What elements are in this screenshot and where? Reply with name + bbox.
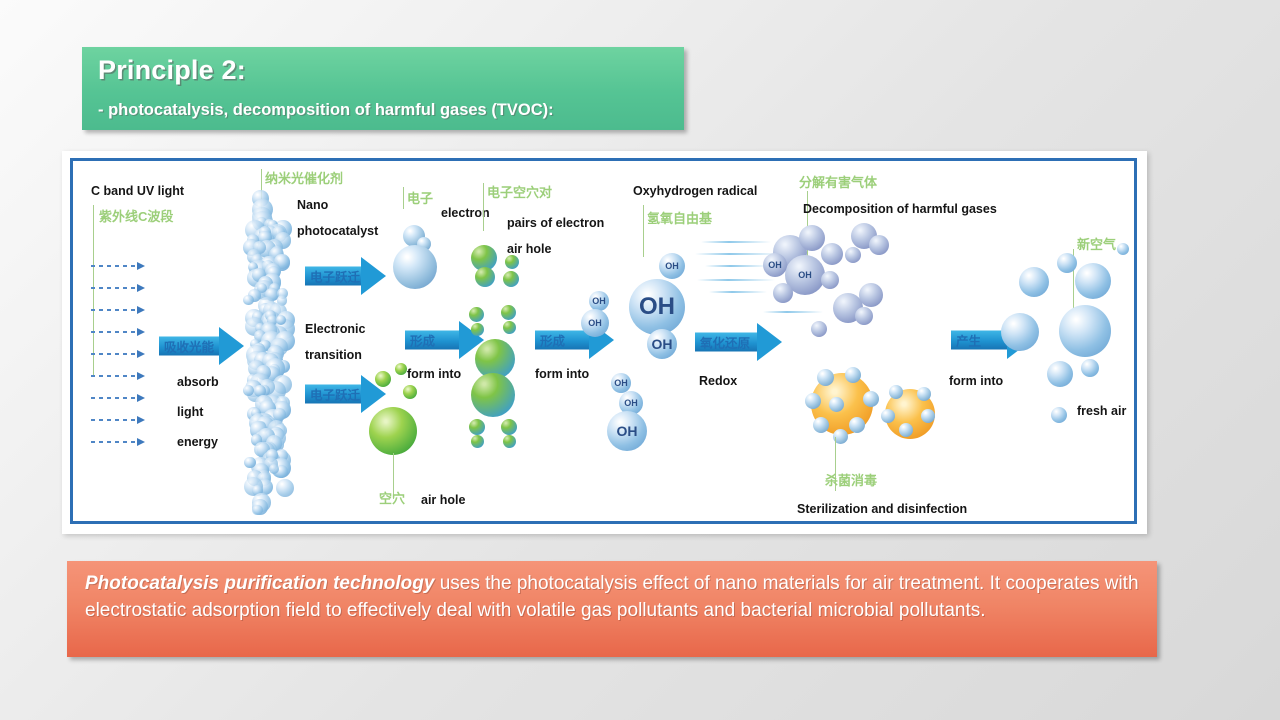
summary-note-box: Photocatalysis purification technology u… [67, 561, 1157, 657]
pair-sphere [503, 321, 516, 334]
harmful-gas-cluster [845, 247, 861, 263]
uv-ray [91, 287, 137, 289]
harmful-gas-cluster [821, 243, 843, 265]
oh-molecule: OH [659, 253, 685, 279]
label-pairs-cn: 电子空穴对 [487, 185, 552, 200]
label-sterilization-cn: 杀菌消毒 [825, 473, 877, 488]
fresh-air-bubble [1059, 305, 1111, 357]
oh-molecule: OH [611, 373, 631, 393]
gas-streak [697, 279, 775, 281]
label-fresh-air-en: fresh air [1077, 403, 1126, 419]
harmful-gas-cluster [859, 283, 883, 307]
arrow-redox: 氧化还原 [695, 321, 787, 363]
diagram-canvas: C band UV light 紫外线C波段 吸收光能 absorb light… [70, 158, 1137, 524]
uv-ray [91, 397, 137, 399]
label-oxyhydrogen-radical: Oxyhydrogen radical [633, 183, 757, 199]
bacteria-oh [845, 367, 861, 383]
label-pairs-en-1: pairs of electron [507, 215, 604, 231]
nano-particle [269, 464, 279, 474]
oh-molecule: OH [589, 291, 609, 311]
photocatalysis-diagram-panel: C band UV light 紫外线C波段 吸收光能 absorb light… [62, 151, 1147, 534]
label-form-into-3: form into [949, 373, 1003, 389]
label-air-hole-en: air hole [421, 492, 465, 508]
air-hole-sphere [369, 407, 417, 455]
uv-ray [91, 353, 137, 355]
label-form-into-1: form into [407, 366, 461, 382]
uv-ray [91, 265, 137, 267]
arrow-form-into-cn-1: 形成 [410, 331, 435, 350]
label-electron-cn: 电子 [407, 191, 433, 206]
bacteria-oh [921, 409, 935, 423]
label-air-hole-cn: 空穴 [379, 491, 405, 506]
label-form-into-2: form into [535, 366, 589, 382]
arrow-transition-cn-2: 电子跃迁 [310, 385, 360, 404]
leader-line-electron [403, 187, 404, 209]
leader-line-uv [93, 205, 94, 375]
uv-ray [91, 441, 137, 443]
label-energy: energy [177, 434, 218, 450]
label-electronic: Electronic [305, 321, 365, 337]
arrow-produce-cn: 产生 [956, 331, 981, 350]
gas-streak [709, 291, 767, 293]
arrow-transition-cn-1: 电子跃迁 [310, 267, 360, 286]
harmful-gas-cluster [799, 225, 825, 251]
air-hole-sphere [375, 371, 391, 387]
label-absorb: absorb [177, 374, 219, 390]
harmful-gas-cluster: OH [763, 253, 787, 277]
summary-note-lead: Photocatalysis purification technology [85, 573, 434, 594]
oh-molecule: OH [581, 309, 609, 337]
label-nano-line2: photocatalyst [297, 223, 378, 239]
arrow-redox-cn: 氧化还原 [700, 333, 750, 352]
pair-sphere [503, 435, 516, 448]
bacteria-oh [917, 387, 931, 401]
gas-streak [763, 311, 823, 313]
fresh-air-bubble [1075, 263, 1111, 299]
harmful-gas-cluster [855, 307, 873, 325]
pair-sphere [503, 271, 519, 287]
principle-title-banner: Principle 2: - photocatalysis, decomposi… [82, 47, 684, 130]
bacteria-oh [817, 369, 834, 386]
electron-sphere [393, 245, 437, 289]
label-sterilization-en: Sterilization and disinfection [797, 501, 967, 517]
fresh-air-bubble [1047, 361, 1073, 387]
arrow-electronic-transition-up: 电子跃迁 [305, 257, 387, 295]
pair-sphere [505, 255, 519, 269]
page-title: Principle 2: [92, 53, 684, 87]
oh-molecule: OH [629, 279, 685, 335]
air-hole-sphere [403, 385, 417, 399]
bacteria-oh [849, 417, 865, 433]
label-fresh-air-cn: 新空气 [1077, 237, 1116, 252]
bacteria-oh [899, 423, 913, 437]
label-nano-cn: 纳米光催化剂 [265, 171, 343, 186]
fresh-air-bubble [1081, 359, 1099, 377]
label-light: light [177, 404, 203, 420]
slide-canvas: Principle 2: - photocatalysis, decomposi… [0, 0, 1280, 720]
pair-sphere [471, 435, 484, 448]
page-subtitle: - photocatalysis, decomposition of harmf… [92, 99, 684, 121]
fresh-air-bubble [1057, 253, 1077, 273]
nano-particle [252, 505, 263, 516]
oh-molecule: OH [607, 411, 647, 451]
leader-line-oh [643, 205, 644, 257]
harmful-gas-cluster [821, 271, 839, 289]
fresh-air-bubble [1019, 267, 1049, 297]
uv-ray [91, 419, 137, 421]
harmful-gas-cluster [773, 283, 793, 303]
bacteria-oh [881, 409, 895, 423]
fresh-air-bubble [1117, 243, 1129, 255]
label-harmful-cn: 分解有害气体 [799, 175, 877, 190]
gas-streak [701, 241, 771, 243]
uv-ray [91, 375, 137, 377]
nano-particle [276, 479, 294, 497]
bacteria-oh [889, 385, 903, 399]
summary-note-text: Photocatalysis purification technology u… [85, 570, 1139, 624]
pair-sphere [469, 307, 484, 322]
label-uv-cn: 紫外线C波段 [99, 209, 173, 224]
pair-sphere [471, 373, 515, 417]
fresh-air-bubble [1001, 313, 1039, 351]
uv-ray [91, 309, 137, 311]
fresh-air-bubble [1051, 407, 1067, 423]
air-hole-sphere [395, 363, 407, 375]
pair-sphere [501, 305, 516, 320]
leader-line-pairs [483, 183, 484, 231]
label-c-band-uv-light: C band UV light [91, 183, 184, 199]
bacteria-oh [829, 397, 844, 412]
pair-sphere [469, 419, 485, 435]
arrow-form-into-cn-2: 形成 [540, 331, 565, 350]
label-redox: Redox [699, 373, 737, 389]
label-transition: transition [305, 347, 362, 363]
pair-sphere [501, 419, 517, 435]
bacteria-oh [805, 393, 821, 409]
label-oxyhydrogen-cn: 氢氧自由基 [647, 211, 712, 226]
bacteria-oh [863, 391, 879, 407]
uv-ray [91, 331, 137, 333]
bacteria-oh [813, 417, 829, 433]
arrow-absorb: 吸收光能 [159, 326, 245, 366]
harmful-gas-cluster [869, 235, 889, 255]
label-harmful-en: Decomposition of harmful gases [803, 201, 997, 217]
oh-molecule: OH [647, 329, 677, 359]
label-nano-line1: Nano [297, 197, 328, 213]
harmful-gas-cluster [811, 321, 827, 337]
arrow-absorb-cn: 吸收光能 [164, 337, 214, 356]
pair-sphere [475, 267, 495, 287]
nano-particle [243, 295, 254, 306]
pair-sphere [471, 323, 484, 336]
gas-streak [705, 265, 769, 267]
